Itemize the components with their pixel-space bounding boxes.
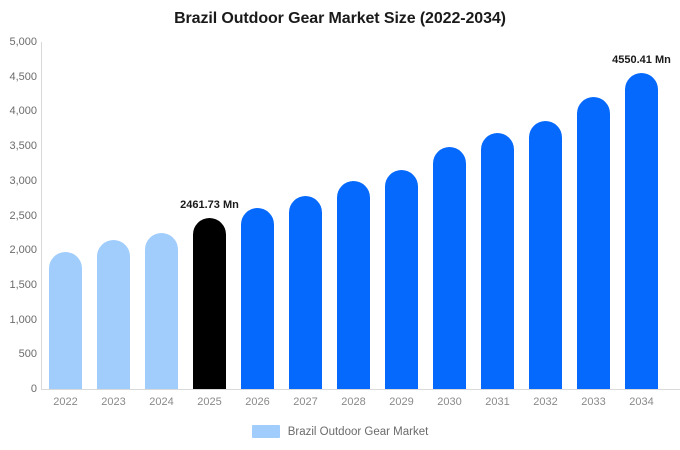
y-axis-tick-label: 1,500 [1,279,37,291]
x-axis-tick-label-2023: 2023 [90,396,138,408]
y-axis-tick-label: 3,000 [1,175,37,187]
bar-2023[interactable] [97,240,130,389]
bar-2030[interactable] [433,147,466,389]
bar-2032[interactable] [529,121,562,389]
y-axis-tick-label: 5,000 [1,36,37,48]
bar-2022[interactable] [49,252,82,389]
bar-2033[interactable] [577,97,610,389]
y-axis-tick-label: 3,500 [1,140,37,152]
y-axis: 05001,0001,5002,0002,5003,0003,5004,0004… [0,42,37,389]
x-axis-baseline [41,389,680,390]
legend-label-brazil-outdoor-gear-market: Brazil Outdoor Gear Market [288,426,429,438]
x-axis-tick-label-2027: 2027 [282,396,330,408]
x-axis-tick-label-2022: 2022 [42,396,90,408]
bar-chart: Brazil Outdoor Gear Market Size (2022-20… [0,0,680,450]
x-axis-tick-label-2030: 2030 [426,396,474,408]
bar-2024[interactable] [145,233,178,389]
bar-2025[interactable] [193,218,226,389]
x-axis-tick-label-2028: 2028 [330,396,378,408]
x-axis-tick-label-2025: 2025 [186,396,234,408]
y-axis-tick-label: 4,000 [1,105,37,117]
bar-2031[interactable] [481,133,514,389]
bar-2034[interactable] [625,73,658,389]
x-axis-tick-label-2026: 2026 [234,396,282,408]
plot-area: 2461.73 Mn4550.41 Mn [41,42,680,389]
chart-title: Brazil Outdoor Gear Market Size (2022-20… [0,10,680,28]
bar-value-label-2034: 4550.41 Mn [612,54,671,66]
bar-2029[interactable] [385,170,418,389]
x-axis-tick-label-2031: 2031 [474,396,522,408]
x-axis-tick-label-2024: 2024 [138,396,186,408]
x-axis-tick-label-2029: 2029 [378,396,426,408]
x-axis-tick-label-2032: 2032 [522,396,570,408]
y-axis-tick-label: 1,000 [1,314,37,326]
x-axis: 2022202320242025202620272028202920302031… [41,396,680,414]
y-axis-tick-label: 2,500 [1,210,37,222]
x-axis-tick-label-2033: 2033 [570,396,618,408]
bar-2027[interactable] [289,196,322,389]
bar-value-label-2025: 2461.73 Mn [180,199,239,211]
bar-2026[interactable] [241,208,274,389]
y-axis-tick-label: 4,500 [1,71,37,83]
x-axis-tick-label-2034: 2034 [618,396,666,408]
bar-2028[interactable] [337,181,370,389]
legend-swatch-brazil-outdoor-gear-market [252,425,280,438]
y-axis-tick-label: 500 [1,348,37,360]
y-axis-tick-label: 2,000 [1,244,37,256]
y-axis-tick-label: 0 [1,383,37,395]
chart-legend: Brazil Outdoor Gear Market [0,425,680,438]
